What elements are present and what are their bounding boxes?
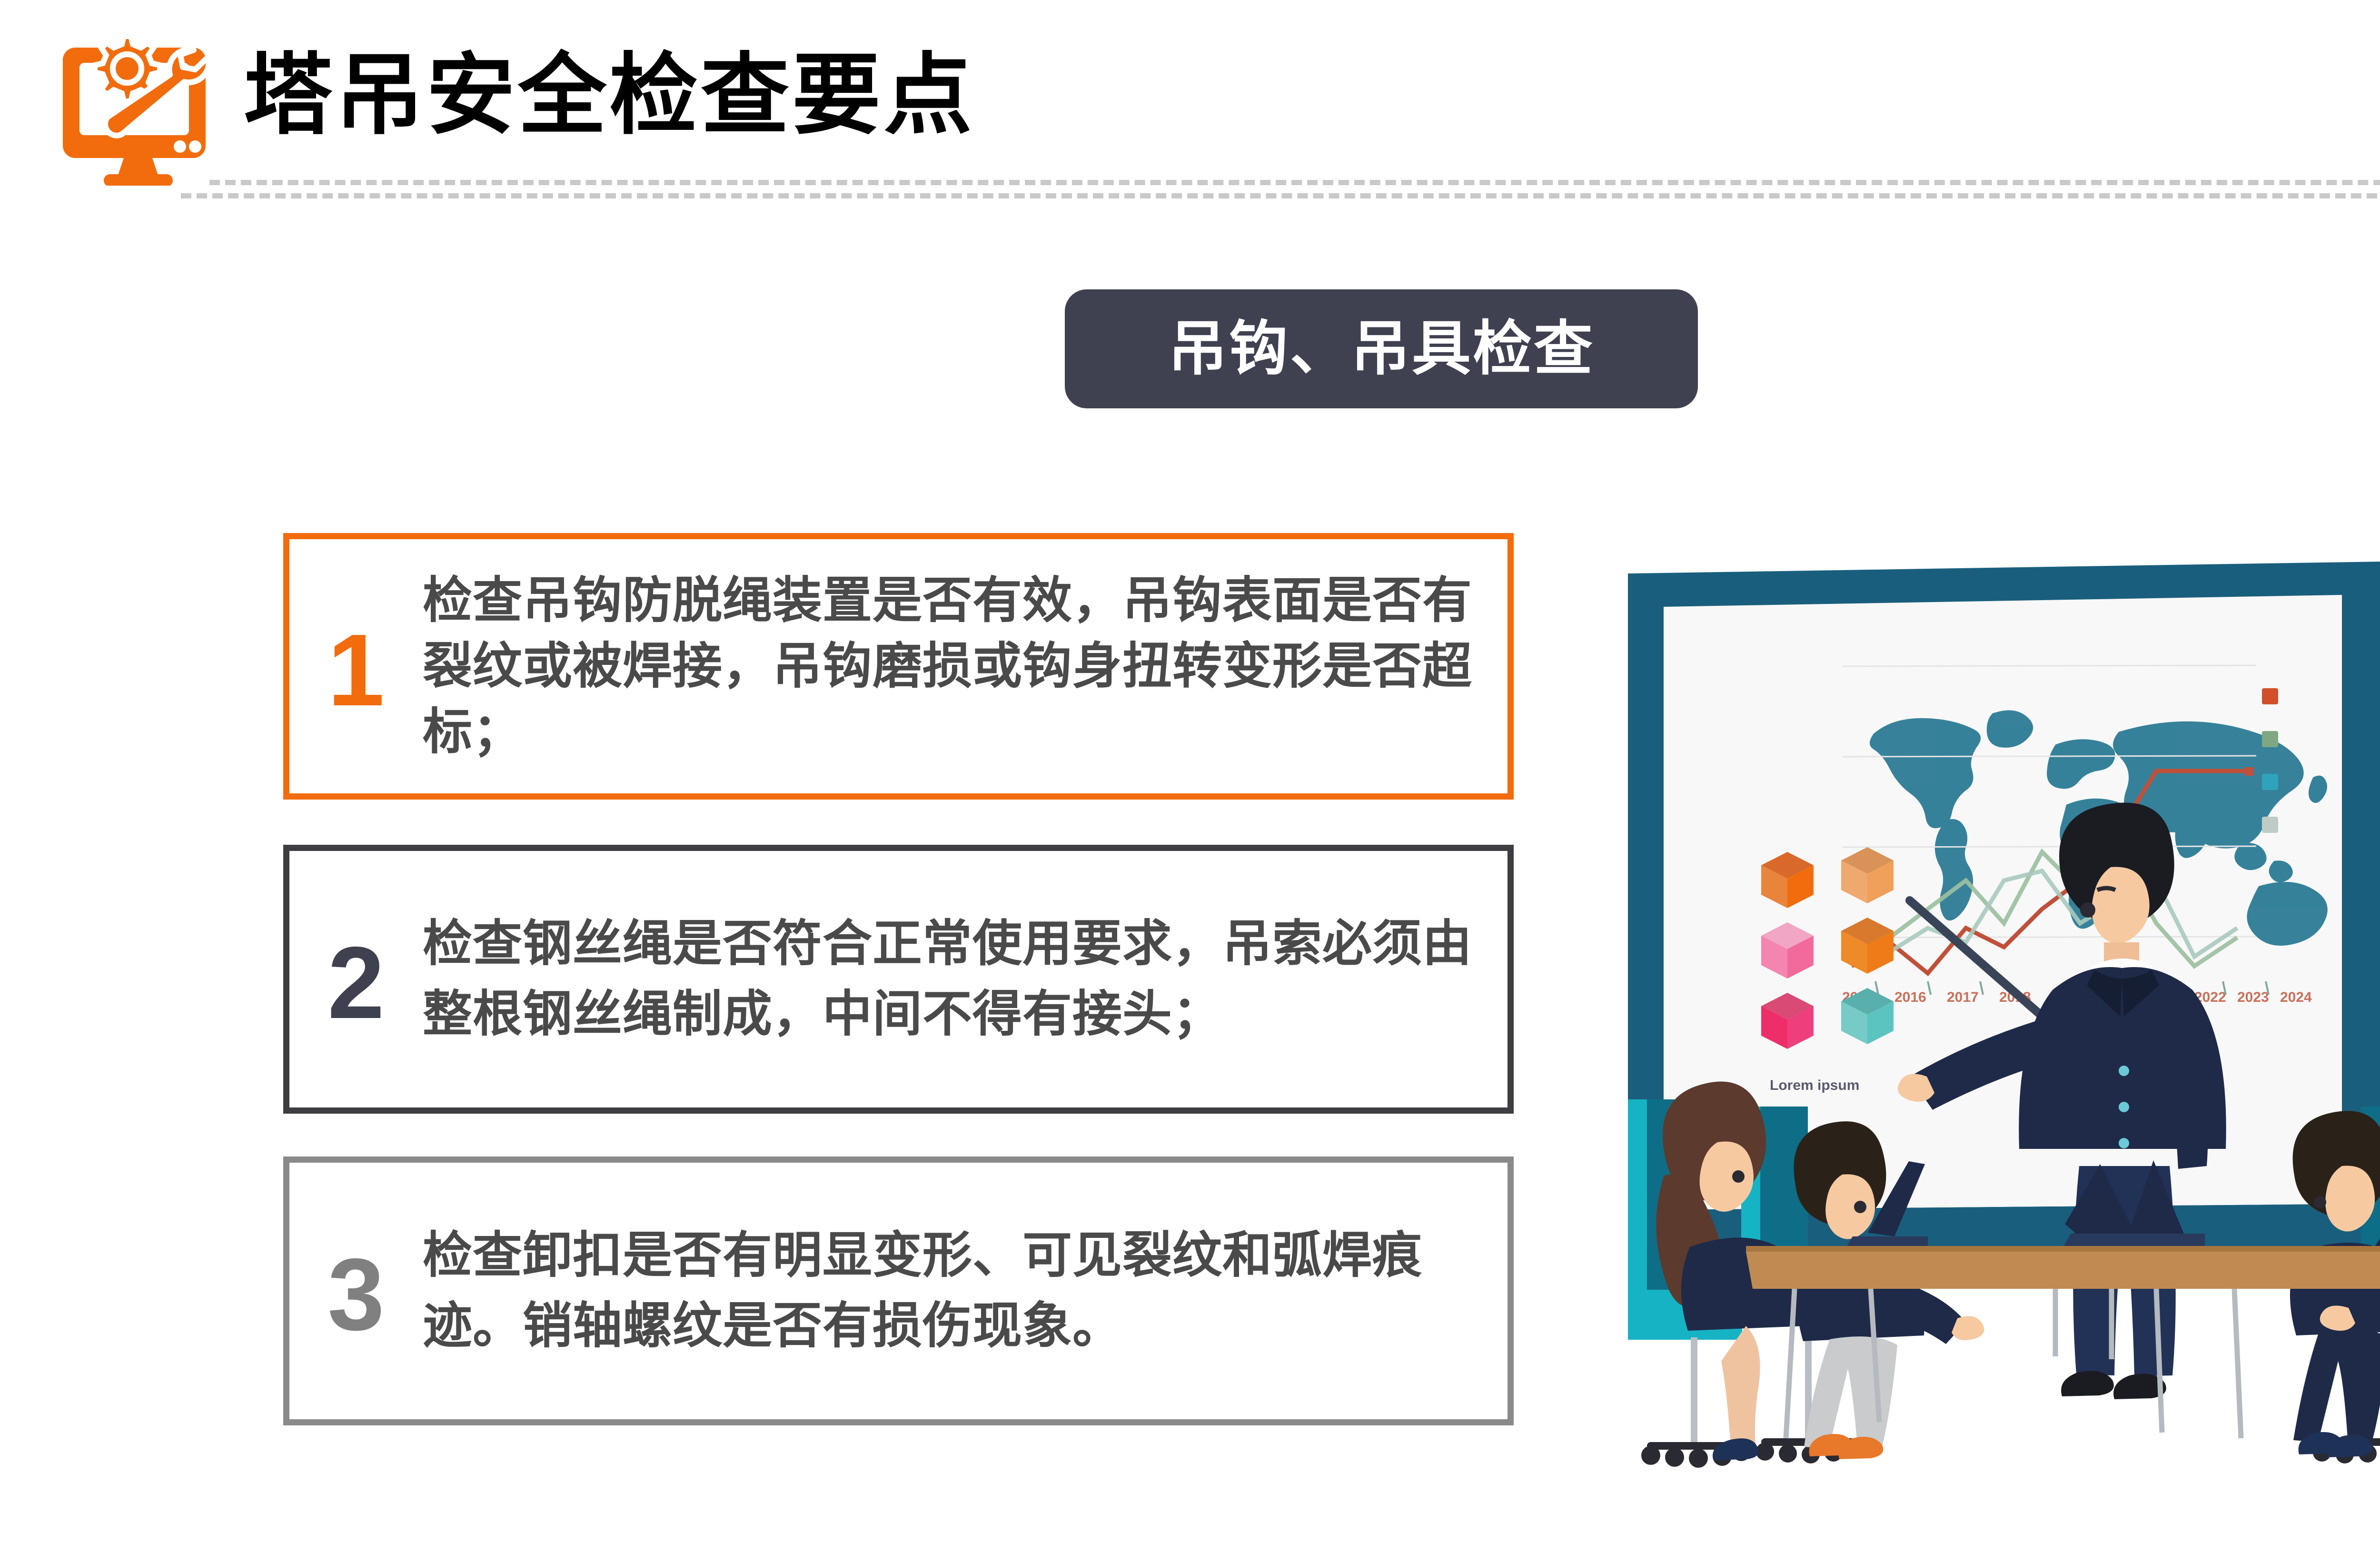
item-text-3: 检查卸扣是否有明显变形、可见裂纹和弧焊痕迹。销轴螺纹是否有损伤现象。 — [423, 1221, 1507, 1361]
svg-text:2016: 2016 — [1894, 989, 1926, 1005]
divider-line-upper — [209, 180, 2380, 185]
monitor-gear-wrench-icon — [52, 29, 224, 186]
header-divider — [0, 177, 2380, 206]
checklist-item-3[interactable]: 3 检查卸扣是否有明显变形、可见裂纹和弧焊痕迹。销轴螺纹是否有损伤现象。 — [283, 1156, 1514, 1425]
checklist-item-2[interactable]: 2 检查钢丝绳是否符合正常使用要求，吊索必须由整根钢丝绳制成，中间不得有接头； — [283, 845, 1514, 1114]
item-text-2: 检查钢丝绳是否符合正常使用要求，吊索必须由整根钢丝绳制成，中间不得有接头； — [423, 909, 1507, 1049]
checklist-item-1[interactable]: 1 检查吊钩防脱绳装置是否有效，吊钩表面是否有裂纹或被焊接，吊钩磨损或钩身扭转变… — [283, 533, 1514, 800]
section-badge-label: 吊钩、吊具检查 — [1168, 319, 1595, 378]
section-badge: 吊钩、吊具检查 — [1065, 289, 1698, 408]
svg-text:2023: 2023 — [2237, 989, 2269, 1005]
checklist-items: 1 检查吊钩防脱绳装置是否有效，吊钩表面是否有裂纹或被焊接，吊钩磨损或钩身扭转变… — [283, 533, 1514, 1456]
page-header: 塔吊安全检查要点 — [0, 0, 2380, 200]
item-number-1: 1 — [289, 612, 423, 721]
item-text-1: 检查吊钩防脱绳装置是否有效，吊钩表面是否有裂纹或被焊接，吊钩磨损或钩身扭转变形是… — [423, 568, 1507, 765]
svg-text:2024: 2024 — [2280, 989, 2312, 1005]
svg-text:2017: 2017 — [1947, 989, 1979, 1005]
svg-text:Lorem ipsum: Lorem ipsum — [1770, 1077, 1859, 1093]
business-meeting-illustration: 2015 2016 2017 2018 2019 2020 2021 2022 … — [1618, 547, 2380, 1475]
divider-line-lower — [181, 193, 2380, 198]
item-number-2: 2 — [289, 925, 423, 1034]
item-number-3: 3 — [289, 1236, 423, 1345]
page-title: 塔吊安全检查要点 — [244, 51, 975, 140]
